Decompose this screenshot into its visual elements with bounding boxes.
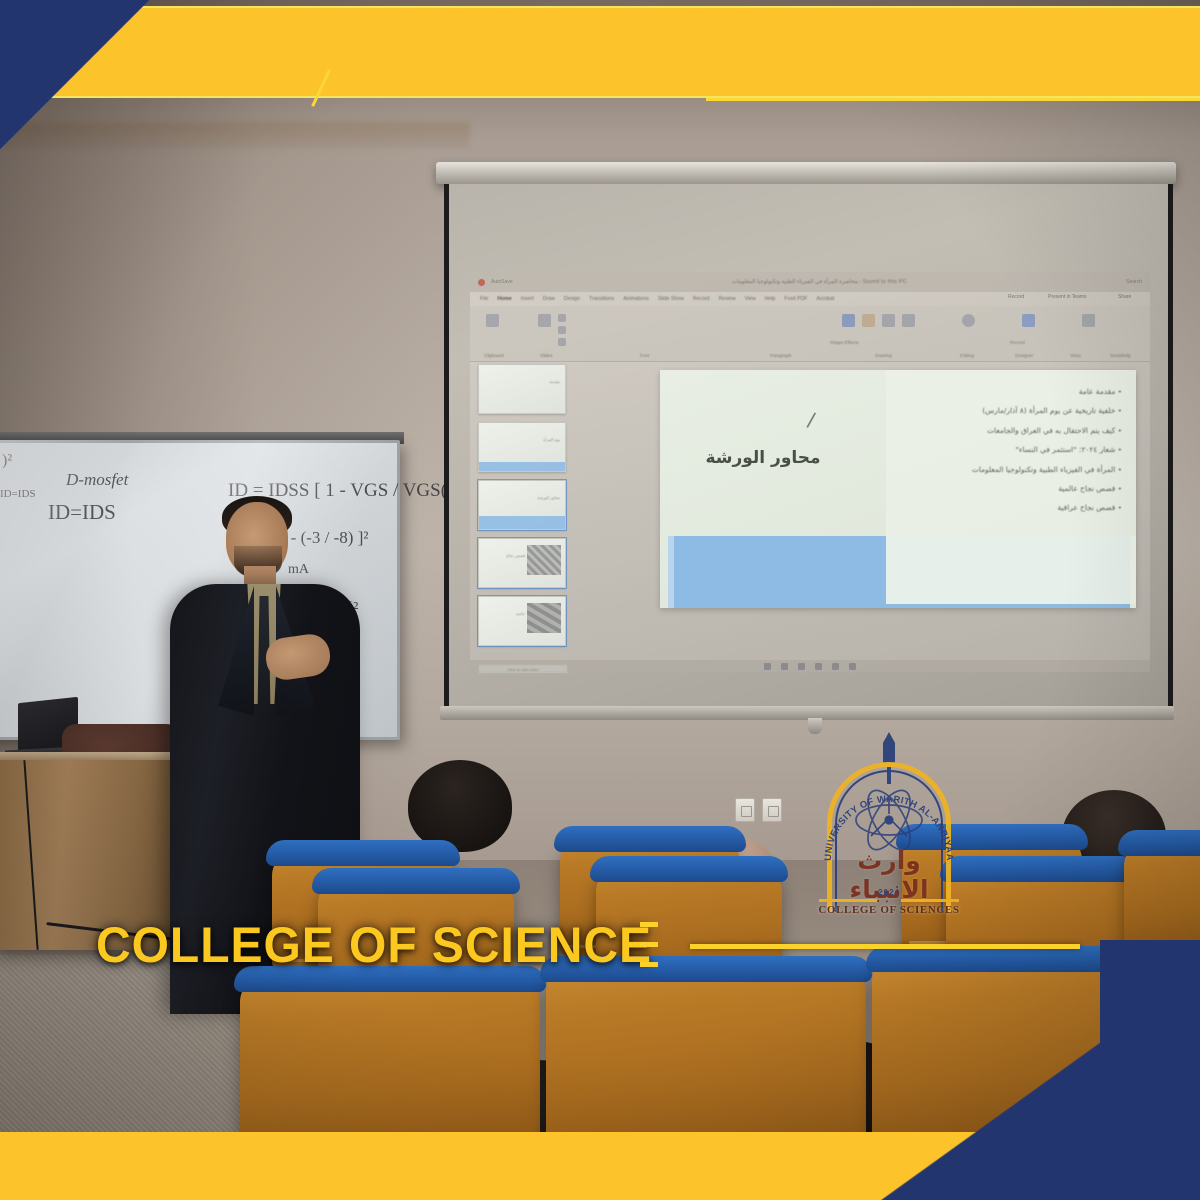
whiteboard-note-0: )² [2,452,12,470]
logo-bar-left [819,899,877,902]
ribbon-group-font: Font [640,353,649,358]
present-in-teams-button[interactable]: Present in Teams [1048,294,1087,300]
section-icon[interactable] [558,338,566,346]
auditorium-chair-front [546,966,866,1156]
shape-outline-icon[interactable] [862,314,875,327]
projector-screen-housing [436,162,1176,184]
thumbnail-caption: مقدمة [549,379,560,385]
title-rule [690,944,1080,949]
ribbon-command-record[interactable]: Record [1010,340,1025,345]
share-button[interactable]: Share [1118,294,1131,300]
slide-thumbnail[interactable]: مقدمة [478,364,566,414]
ribbon-group-designer: Designer [1015,353,1033,358]
ribbon-command-shape-effects[interactable]: Shape Effects [830,340,859,345]
projector-screen-edge-right [1168,184,1173,714]
slide-bullet-list: مقدمة عامة خلفية تاريخية عن يوم المرأة (… [872,388,1122,524]
bottom-right-navy-strip [1100,940,1200,1200]
title-dash-1 [640,922,658,927]
designer-icon[interactable] [1082,314,1095,327]
editing-icon[interactable] [962,314,975,327]
logo-year: 2024 [805,888,973,897]
ppt-autosave-toggle[interactable]: AutoSave [491,279,513,285]
whiteboard-note-5: mA [288,562,309,578]
thumbnail-caption: خاتمة [516,611,525,617]
logo-college-label: COLLEGE OF SCIENCES [805,904,973,916]
ribbon-group-voice: Voice [1070,353,1081,358]
slide-bullet: قصص نجاح عالمية [872,485,1122,492]
current-slide: / محاور الورشة مقدمة عامة خلفية تاريخية … [660,370,1136,608]
slide-bullet: قصص نجاح عراقية [872,504,1122,511]
slide-bullet: خلفية تاريخية عن يوم المرأة (٨ آذار/مارس… [872,407,1122,414]
logo-bar-right [901,899,959,902]
ppt-tab-insert[interactable]: Insert [521,296,534,302]
page-title: COLLEGE OF SCIENCE [96,916,652,974]
slide-slash-mark: / [805,408,817,435]
ppt-tab-home[interactable]: Home [497,296,511,302]
taskbar-powerpoint-icon[interactable] [832,663,839,670]
taskbar-search-icon[interactable] [781,663,788,670]
thumbnail-image [527,545,561,575]
paste-icon[interactable] [486,314,499,327]
thumbnail-image [527,603,561,633]
shape-fill-icon[interactable] [842,314,855,327]
shape-effects-icon[interactable] [882,314,895,327]
whiteboard-note-2: ID=IDS [48,500,116,525]
slide-bullet: شعار ٢٠٢٤: "استثمر في النساء" [872,446,1122,453]
ppt-search-box[interactable]: Search [1126,279,1142,285]
slide-thumbnail-panel[interactable]: مقدمة يوم المرأة محاور الورشة قصص نجاح خ… [478,364,574,662]
projector-screen-bottom-bar [440,706,1174,720]
thumbnail-caption: يوم المرأة [543,437,560,443]
slide-bullet: كيف يتم الاحتفال به في العراق والجامعات [872,427,1122,434]
new-slide-icon[interactable] [538,314,551,327]
reset-icon[interactable] [558,326,566,334]
ppt-tab-record[interactable]: Record [693,296,710,302]
slide-bullet: مقدمة عامة [872,388,1122,395]
ribbon-group-slides: Slides [540,353,553,358]
top-yellow-banner [0,6,1200,98]
ppt-tab-design[interactable]: Design [564,296,580,302]
ppt-tab-transitions[interactable]: Transitions [589,296,614,302]
slide-bullet: المرأة في الفيزياء الطبية وتكنولوجيا الم… [872,466,1122,473]
arrange-icon[interactable] [902,314,915,327]
record-button[interactable]: Record [1008,294,1024,300]
ppt-document-title: محاضرة المرأة في الفيزياء الطبية وتكنولو… [519,279,1120,285]
thumbnail-accent [479,462,565,471]
slide-title: محاور الورشة [688,448,838,468]
ribbon-group-sensitivity: Sensitivity [1110,353,1131,358]
ppt-tab-animations[interactable]: Animations [623,296,649,302]
taskbar-start-icon[interactable] [764,663,771,670]
whiteboard-note-1: D-mosfet [66,470,128,490]
ppt-app-icon [478,279,485,286]
slide-accent-tab [668,536,674,608]
title-dash-3 [640,962,658,967]
taskbar-browser-icon[interactable] [815,663,822,670]
slide-thumbnail[interactable]: خاتمة [478,596,566,646]
ribbon-group-editing: Editing [960,353,974,358]
top-thin-yellow-rule [706,98,1200,101]
auditorium-chair-front [240,976,540,1156]
poster-canvas: )² D-mosfet ID=IDS ID = IDSS [ 1 - VGS /… [0,0,1200,1200]
dictate-icon[interactable] [1022,314,1035,327]
slide-thumbnail[interactable]: يوم المرأة [478,422,566,472]
ppt-tab-file[interactable]: File [480,296,488,302]
ribbon-group-drawing: Drawing [875,353,892,358]
slide-content-overlay [886,536,1136,604]
title-dash-2 [640,942,658,947]
taskbar-explorer-icon[interactable] [798,663,805,670]
ribbon-group-clipboard: Clipboard [484,353,504,358]
ribbon-group-paragraph: Paragraph [770,353,791,358]
ppt-title-bar: AutoSave محاضرة المرأة في الفيزياء الطبي… [470,272,1150,292]
ppt-ribbon: Clipboard Slides Font Paragraph Drawing … [470,306,1150,362]
ppt-tab-foxit[interactable]: Foxit PDF [784,296,807,302]
layout-icon[interactable] [558,314,566,322]
ppt-tab-draw[interactable]: Draw [543,296,555,302]
slide-thumbnail-selected[interactable]: محاور الورشة [478,480,566,530]
slide-thumbnail[interactable]: قصص نجاح [478,538,566,588]
ppt-tab-slideshow[interactable]: Slide Show [658,296,684,302]
projected-powerpoint-window: AutoSave محاضرة المرأة في الفيزياء الطبي… [470,272,1150,672]
ppt-tab-help[interactable]: Help [765,296,776,302]
thumbnail-caption: قصص نجاح [506,553,525,559]
university-logo: UNIVERSITY OF WARITH AL-ANBIYAA وارث الا… [805,728,973,928]
ppt-tab-acrobat[interactable]: Acrobat [816,296,834,302]
thumbnail-accent [479,516,565,529]
thumbnail-caption: محاور الورشة [537,495,560,501]
ppt-tab-review[interactable]: Review [719,296,736,302]
taskbar-mail-icon[interactable] [849,663,856,670]
ppt-tab-view[interactable]: View [745,296,756,302]
whiteboard-note-7: ID=IDS [0,488,36,500]
top-left-navy-triangle [0,0,150,150]
windows-taskbar [470,660,1150,672]
